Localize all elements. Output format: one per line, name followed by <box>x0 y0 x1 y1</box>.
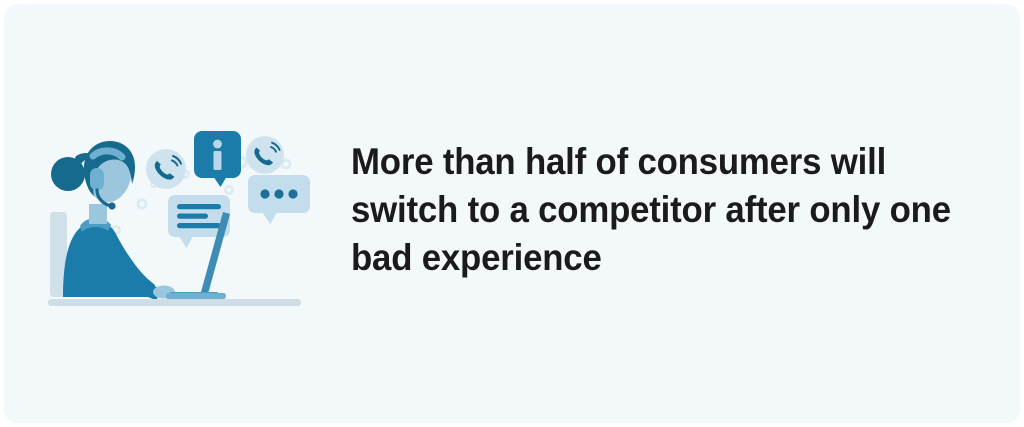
agent-neck <box>89 204 107 224</box>
typing-bubble <box>248 175 310 224</box>
info-bubble <box>194 131 241 187</box>
phone-icon-right <box>246 136 284 174</box>
page-title: More than half of consumers will switch … <box>351 138 953 282</box>
phone-icon-left <box>146 149 186 189</box>
customer-support-agent-illustration <box>46 112 326 312</box>
stat-card: More than half of consumers will switch … <box>4 4 1020 423</box>
desk-surface <box>48 299 301 306</box>
